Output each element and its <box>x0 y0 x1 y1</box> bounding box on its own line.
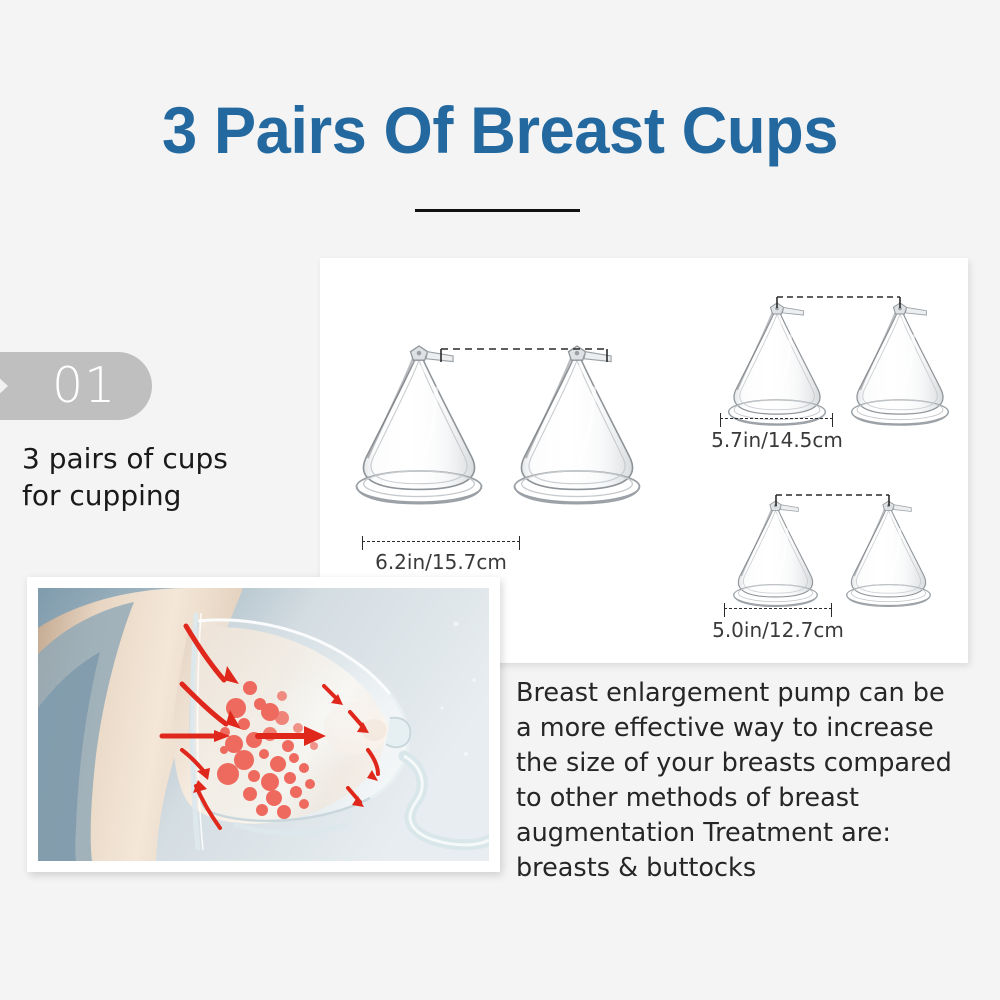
cup-large-left <box>357 346 482 504</box>
cup-large-right <box>515 346 640 504</box>
cup-small-right <box>847 501 931 606</box>
breast-cupping-photo-frame <box>27 577 500 872</box>
description-line-5: augmentation Treatment are: <box>516 816 1000 851</box>
dimension-label-medium: 5.7in/14.5cm <box>692 428 862 452</box>
description-line-2: a more effective way to increase <box>516 711 1000 746</box>
dimension-bracket-small <box>776 495 889 506</box>
chevron-right-icon <box>0 375 8 397</box>
description-paragraph: Breast enlargement pump can be a more ef… <box>516 676 1000 886</box>
cup-medium-left <box>729 303 826 425</box>
dimension-label-large: 6.2in/15.7cm <box>362 550 520 574</box>
step-caption-line-1: 3 pairs of cups <box>22 440 302 477</box>
step-number-label: 01 <box>52 354 116 418</box>
cup-small-left <box>734 501 818 606</box>
cupping-illustration-svg <box>38 588 489 861</box>
title-underline-divider <box>415 209 580 212</box>
dimension-bracket-medium <box>777 297 900 308</box>
dimension-label-small: 5.0in/12.7cm <box>693 618 863 642</box>
step-caption: 3 pairs of cups for cupping <box>22 440 302 514</box>
cup-medium-right <box>852 303 949 425</box>
description-line-4: to other methods of breast <box>516 781 1000 816</box>
description-line-1: Breast enlargement pump can be <box>516 676 1000 711</box>
description-line-6: breasts & buttocks <box>516 851 1000 886</box>
step-caption-line-2: for cupping <box>22 477 302 514</box>
breast-cupping-photo <box>38 588 489 861</box>
product-infographic-page: 3 Pairs Of Breast Cups 01 3 pairs of cup… <box>0 0 1000 1000</box>
page-title: 3 Pairs Of Breast Cups <box>20 92 980 168</box>
description-line-3: the size of your breasts compared <box>516 746 1000 781</box>
